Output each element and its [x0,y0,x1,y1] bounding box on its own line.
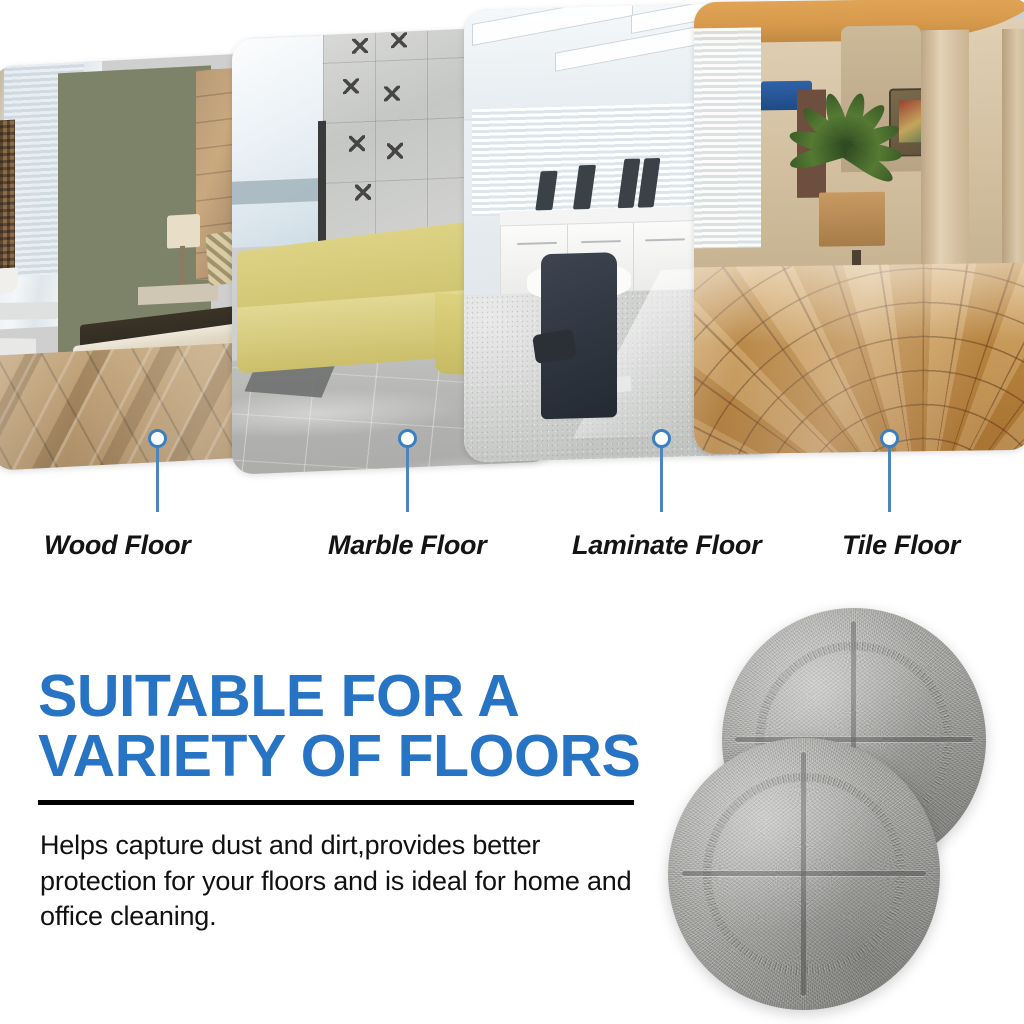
headline-line-2: VARIETY OF FLOORS [38,726,718,786]
green-wall [58,65,210,352]
callout-leader-tile [888,446,891,512]
headline-divider-rule [38,800,634,805]
panel-label-tile: Tile Floor [842,530,960,561]
headline-line-1: SUITABLE FOR A [38,666,718,726]
tile-motif [355,184,371,200]
floor-type-panel-strip [0,0,1024,512]
callout-marker-laminate[interactable] [652,429,671,448]
shelf-upper [0,302,58,321]
panel-label-marble: Marble Floor [328,530,486,561]
left-glass-blinds [694,27,761,248]
patterned-tile-wall [323,25,483,243]
lamp-stem [180,246,186,290]
lobby-tile-floor-scene [694,0,1024,454]
callout-marker-wood[interactable] [148,429,167,448]
panel-label-laminate: Laminate Floor [572,530,761,561]
divider-post [318,121,326,248]
panel-label-wood: Wood Floor [44,530,190,561]
callout-marker-tile[interactable] [880,429,899,448]
headline: SUITABLE FOR A VARIETY OF FLOORS [38,666,718,786]
callout-leader-laminate [660,446,663,512]
callout-leader-marble [406,446,409,512]
sea-horizon [232,177,330,205]
body-copy: Helps capture dust and dirt,provides bet… [40,828,650,935]
window-blinds [472,102,721,216]
tile-motif [352,38,368,54]
tile-motif [343,78,359,94]
cabinet-handle [645,239,685,242]
floor-panel-tile[interactable] [694,0,1024,454]
tile-motif [384,85,400,101]
cabinet-handle [517,242,557,245]
cabinet-handle [581,240,621,243]
tile-motif [387,143,403,159]
tile-motif [391,32,407,48]
column-main [921,29,968,293]
callout-leader-wood [156,446,159,512]
palm-plant [790,40,900,207]
callout-marker-marble[interactable] [398,429,417,448]
column-secondary [1002,28,1024,273]
floor-gloss-highlight [694,262,1024,454]
tile-motif [349,136,365,152]
lamp-shade [167,214,200,248]
lattice-screen [0,119,15,269]
